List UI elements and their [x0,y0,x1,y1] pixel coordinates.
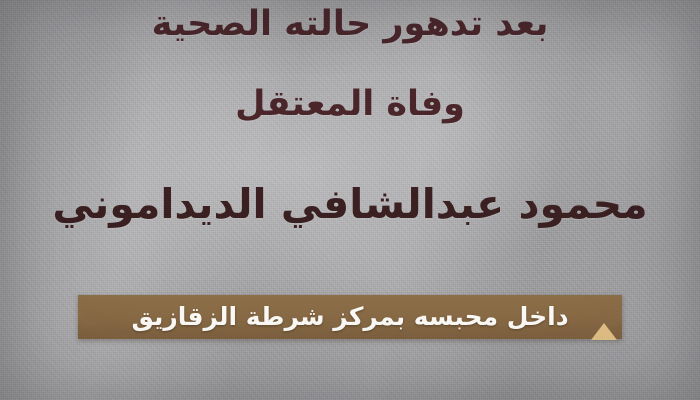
headline-block: بعد تدهور حالته الصحية وفاة المعتقل محمو… [0,0,700,400]
triangle-up-icon [591,323,617,340]
news-poster: بعد تدهور حالته الصحية وفاة المعتقل محمو… [0,0,700,400]
detainee-name: محمود عبدالشافي الديداموني [0,182,700,226]
location-banner-text: داخل محبسه بمركز شرطة الزقازيق [78,295,622,339]
location-banner: داخل محبسه بمركز شرطة الزقازيق [78,295,622,339]
headline-line-2: وفاة المعتقل [0,86,700,123]
headline-line-1: بعد تدهور حالته الصحية [0,6,700,43]
